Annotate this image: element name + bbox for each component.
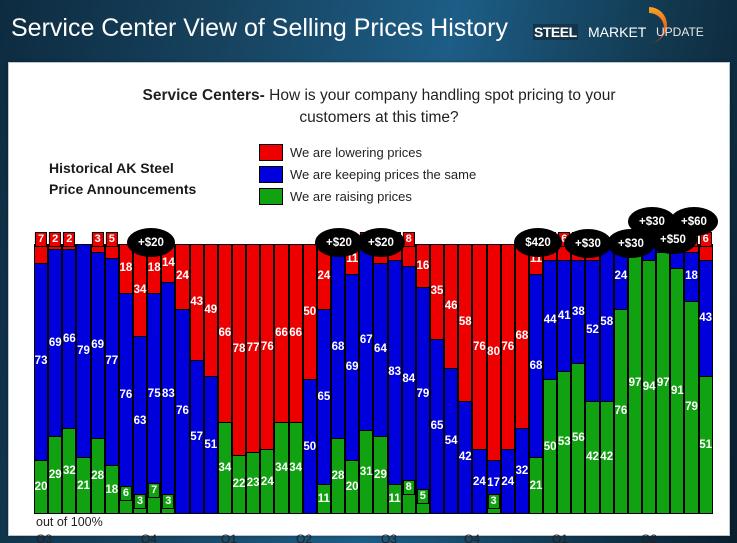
bar-value-label: 46 xyxy=(445,301,458,312)
bar-segment-red: 80 xyxy=(488,244,500,460)
legend-item-1: We are keeping prices the same xyxy=(259,165,476,184)
bar-segment-blue: 38 xyxy=(572,260,584,363)
steel-market-update-logo: STEEL MARKET UPDATE xyxy=(533,16,729,50)
bar-segment-green: 11 xyxy=(318,484,330,514)
chart-legend: We are lowering pricesWe are keeping pri… xyxy=(259,143,476,209)
bar-value-label: 51 xyxy=(204,440,217,451)
bar-segment-green: 29 xyxy=(374,436,386,514)
bar-value-label: 24 xyxy=(473,477,486,488)
bar-segment-blue: 32 xyxy=(516,428,528,514)
bar-value-label: 64 xyxy=(374,344,387,355)
bar-segment-red: 58 xyxy=(459,244,471,401)
logo-word-update: UPDATE xyxy=(656,25,704,39)
table-row: 246511 xyxy=(317,244,331,514)
bar-container: 7732026929266327921369285771818766346331… xyxy=(34,244,713,514)
table-row: 16795 xyxy=(416,244,430,514)
price-callout-2: +$20 xyxy=(357,228,405,257)
bar-value-label: 68 xyxy=(515,331,528,342)
table-row: 80173 xyxy=(487,244,501,514)
bar-segment-green: 28 xyxy=(92,438,104,514)
bar-segment-blue: 68 xyxy=(530,274,542,458)
bar-segment-red: 66 xyxy=(275,244,287,422)
bar-segment-blue: 63 xyxy=(134,336,146,506)
x-tick-0: Q3 xyxy=(36,532,52,543)
bar-segment-red: 7 xyxy=(35,244,47,263)
bar-segment-green: 76 xyxy=(615,309,627,514)
table-row: 77320 xyxy=(34,244,48,514)
bar-value-label: 23 xyxy=(247,478,260,489)
bar-segment-blue: 54 xyxy=(445,368,457,514)
bar-segment-blue: 50 xyxy=(304,379,316,514)
table-row: 26632 xyxy=(62,244,76,514)
legend-label: We are keeping prices the same xyxy=(290,167,476,182)
price-callout-7: +$30 xyxy=(628,207,676,236)
bar-segment-red: 6 xyxy=(700,244,712,260)
bar-segment-blue: 68 xyxy=(332,255,344,439)
bar-value-label: 42 xyxy=(586,452,599,463)
bar-value-label: 51 xyxy=(699,440,712,451)
bar-value-label: 29 xyxy=(374,470,387,481)
table-row: 36928 xyxy=(91,244,105,514)
bar-segment-blue: 69 xyxy=(49,249,61,435)
bar-value-label: 69 xyxy=(346,362,359,373)
bar-segment-green: 8 xyxy=(403,492,415,514)
bar-segment-green: 23 xyxy=(247,452,259,514)
y-axis-line xyxy=(34,244,35,514)
bar-value-label: 18 xyxy=(685,271,698,282)
table-row: 7921 xyxy=(76,244,90,514)
logo-word-steel: STEEL xyxy=(533,24,578,40)
bar-segment-green: 20 xyxy=(35,460,47,514)
bar-segment-blue: 79 xyxy=(77,244,89,457)
bar-value-label: 73 xyxy=(35,356,48,367)
bar-segment-blue: 58 xyxy=(601,244,613,401)
bar-value-label: 32 xyxy=(515,466,528,477)
table-row: 8848 xyxy=(402,244,416,514)
table-row: 5842 xyxy=(458,244,472,514)
bar-value-label: 38 xyxy=(572,307,585,318)
table-row: 65242 xyxy=(585,244,599,514)
table-row: 31879 xyxy=(684,244,698,514)
table-row: 3565 xyxy=(430,244,444,514)
bar-segment-green: 51 xyxy=(700,376,712,514)
bar-value-label: 2 xyxy=(63,232,75,247)
table-row: 64153 xyxy=(557,244,571,514)
table-row: 7822 xyxy=(232,244,246,514)
table-row: 63856 xyxy=(571,244,585,514)
bar-value-label: 50 xyxy=(303,442,316,453)
bar-value-label: 34 xyxy=(219,463,232,474)
price-callout-0: +$20 xyxy=(127,228,175,257)
bar-segment-blue: 64 xyxy=(374,263,386,436)
table-row: 991 xyxy=(670,244,684,514)
bar-segment-green: 97 xyxy=(629,252,641,514)
bar-segment-green: 22 xyxy=(233,455,245,514)
bar-value-label: 24 xyxy=(317,271,330,282)
price-callout-3: $420 xyxy=(514,228,562,257)
bar-value-label: 35 xyxy=(431,286,444,297)
bar-segment-red: 78 xyxy=(233,244,245,455)
bar-value-label: 7 xyxy=(148,483,160,498)
bar-value-label: 43 xyxy=(699,313,712,324)
question-lead: Service Centers- xyxy=(143,87,265,104)
table-row: 694 xyxy=(642,244,656,514)
bar-value-label: 20 xyxy=(35,482,48,493)
bar-segment-green: 97 xyxy=(657,252,669,514)
bar-value-label: 97 xyxy=(629,378,642,389)
bar-segment-blue: 44 xyxy=(544,260,556,379)
bar-value-label: 49 xyxy=(204,305,217,316)
legend-label: We are lowering prices xyxy=(290,145,422,160)
x-tick-3: Q2 xyxy=(296,532,312,543)
bar-value-label: 83 xyxy=(162,389,175,400)
bar-value-label: 42 xyxy=(600,452,613,463)
bar-segment-red: 77 xyxy=(247,244,259,452)
bar-segment-red: 3 xyxy=(92,244,104,252)
bar-value-label: 66 xyxy=(289,328,302,339)
bar-value-label: 34 xyxy=(289,463,302,474)
bar-value-label: 3 xyxy=(162,494,174,509)
bar-segment-red: 18 xyxy=(120,244,132,293)
bar-segment-blue: 24 xyxy=(473,449,485,514)
bar-segment-green: 6 xyxy=(120,498,132,514)
bar-segment-blue: 41 xyxy=(558,260,570,371)
table-row: 34633 xyxy=(133,244,147,514)
bar-segment-green: 24 xyxy=(261,449,273,514)
content-panel: Service Centers- How is your company han… xyxy=(8,62,730,536)
bar-segment-green: 34 xyxy=(219,422,231,514)
bar-value-label: 29 xyxy=(49,470,62,481)
bar-value-label: 42 xyxy=(459,452,472,463)
x-tick-1: Q4 xyxy=(141,532,157,543)
bar-segment-red: 34 xyxy=(134,244,146,336)
bar-segment-green: 34 xyxy=(275,422,287,514)
bar-segment-red: 76 xyxy=(502,244,514,449)
bar-segment-blue: 52 xyxy=(586,260,598,400)
table-row: 116821 xyxy=(529,244,543,514)
bar-segment-blue: 83 xyxy=(389,260,401,484)
bar-segment-red: 35 xyxy=(431,244,443,339)
x-axis-line xyxy=(34,513,713,514)
bar-value-label: 66 xyxy=(275,328,288,339)
bar-segment-blue: 18 xyxy=(685,252,697,301)
survey-question: Service Centers- How is your company han… xyxy=(129,85,629,129)
bar-segment-green: 42 xyxy=(601,401,613,514)
legend-item-2: We are raising prices xyxy=(259,187,476,206)
table-row: 64351 xyxy=(699,244,713,514)
table-row: 397 xyxy=(628,244,642,514)
bar-value-label: 76 xyxy=(176,406,189,417)
bar-segment-green: 79 xyxy=(685,301,697,514)
bar-value-label: 52 xyxy=(586,325,599,336)
table-row: 7624 xyxy=(501,244,515,514)
bar-value-label: 24 xyxy=(176,271,189,282)
table-row: 18766 xyxy=(119,244,133,514)
bar-segment-blue: 79 xyxy=(417,287,429,500)
bar-value-label: 11 xyxy=(389,494,401,505)
slide-root: Service Center View of Selling Prices Hi… xyxy=(0,0,737,543)
bar-segment-green: 32 xyxy=(63,428,75,514)
bar-segment-red: 46 xyxy=(445,244,457,368)
bar-segment-blue: 77 xyxy=(106,258,118,466)
bar-segment-blue: 83 xyxy=(162,282,174,506)
bar-value-label: 21 xyxy=(77,481,90,492)
bar-segment-green: 21 xyxy=(77,457,89,514)
bar-segment-green: 56 xyxy=(572,363,584,514)
table-row: 4654 xyxy=(444,244,458,514)
page-title: Service Center View of Selling Prices Hi… xyxy=(11,14,508,43)
bar-value-label: 24 xyxy=(614,271,627,282)
bar-value-label: 83 xyxy=(388,367,401,378)
bar-segment-green: 5 xyxy=(417,501,429,515)
bar-segment-green: 42 xyxy=(586,401,598,514)
table-row: 6634 xyxy=(218,244,232,514)
bar-value-label: 20 xyxy=(346,482,359,493)
bar-value-label: 56 xyxy=(572,433,585,444)
bar-value-label: 14 xyxy=(162,258,175,269)
table-row: 5050 xyxy=(303,244,317,514)
bar-value-label: 58 xyxy=(600,317,613,328)
bar-value-label: 75 xyxy=(148,389,161,400)
table-row: 4951 xyxy=(204,244,218,514)
bar-segment-red: 8 xyxy=(403,244,415,266)
bar-value-label: 22 xyxy=(233,479,246,490)
bar-segment-blue: 24 xyxy=(502,449,514,514)
bar-value-label: 34 xyxy=(134,285,147,296)
legend-item-0: We are lowering prices xyxy=(259,143,476,162)
table-row: 18757 xyxy=(147,244,161,514)
table-row: 397 xyxy=(656,244,670,514)
slide-header: Service Center View of Selling Prices Hi… xyxy=(0,0,737,60)
bar-segment-red: 5 xyxy=(106,244,118,258)
x-tick-5: Q4 xyxy=(464,532,480,543)
bar-segment-blue: 57 xyxy=(191,360,203,514)
bar-value-label: 18 xyxy=(148,263,161,274)
bar-value-label: 76 xyxy=(120,390,133,401)
bar-segment-blue: 43 xyxy=(700,260,712,376)
bar-value-label: 18 xyxy=(105,485,118,496)
bar-value-label: 24 xyxy=(501,477,514,488)
bar-segment-red: 43 xyxy=(191,244,203,360)
bar-value-label: 28 xyxy=(332,471,345,482)
bar-segment-green: 20 xyxy=(346,460,358,514)
bar-value-label: 6 xyxy=(120,486,132,501)
bar-segment-blue: 51 xyxy=(205,376,217,514)
table-row: 6634 xyxy=(289,244,303,514)
bar-segment-red: 68 xyxy=(516,244,528,428)
table-row: 46828 xyxy=(331,244,345,514)
bar-value-label: 66 xyxy=(63,334,76,345)
bar-value-label: 91 xyxy=(671,386,684,397)
bar-value-label: 11 xyxy=(318,494,330,505)
bar-value-label: 53 xyxy=(558,437,571,448)
bar-segment-blue: 69 xyxy=(92,252,104,438)
bar-value-label: 94 xyxy=(643,382,656,393)
legend-label: We are raising prices xyxy=(290,189,412,204)
bar-value-label: 68 xyxy=(332,342,345,353)
bar-value-label: 21 xyxy=(530,481,543,492)
x-tick-7: Q2 xyxy=(641,532,657,543)
bar-value-label: 34 xyxy=(275,463,288,474)
table-row: 7723 xyxy=(246,244,260,514)
bar-segment-green: 94 xyxy=(643,260,655,514)
table-row: 14833 xyxy=(161,244,175,514)
bar-segment-blue: 42 xyxy=(459,401,471,514)
bar-value-label: 3 xyxy=(134,494,146,509)
bar-segment-blue: 66 xyxy=(63,249,75,427)
bar-value-label: 5 xyxy=(417,489,429,504)
bar-value-label: 31 xyxy=(360,467,373,478)
bar-value-label: 79 xyxy=(685,402,698,413)
bar-value-label: 54 xyxy=(445,436,458,447)
bar-segment-blue: 84 xyxy=(403,266,415,493)
table-row: 26731 xyxy=(359,244,373,514)
table-row: 68311 xyxy=(388,244,402,514)
bar-value-label: 66 xyxy=(219,328,232,339)
table-row: 6634 xyxy=(274,244,288,514)
bar-segment-green: 18 xyxy=(106,465,118,514)
bar-segment-blue: 76 xyxy=(176,309,188,514)
bar-value-label: 44 xyxy=(544,315,557,326)
bar-segment-blue: 75 xyxy=(148,293,160,496)
bar-segment-green: 53 xyxy=(558,371,570,514)
bar-value-label: 16 xyxy=(416,261,429,272)
bar-value-label: 8 xyxy=(403,480,415,495)
bar-value-label: 58 xyxy=(459,317,472,328)
bar-segment-blue: 67 xyxy=(360,249,372,430)
bar-value-label: 41 xyxy=(558,311,571,322)
bar-value-label: 76 xyxy=(261,342,274,353)
bar-segment-red: 76 xyxy=(473,244,485,449)
table-row: 57718 xyxy=(105,244,119,514)
legend-swatch-icon xyxy=(259,144,283,161)
logo-word-market: MARKET xyxy=(588,24,646,40)
x-tick-6: Q1 xyxy=(552,532,568,543)
bar-value-label: 77 xyxy=(247,343,260,354)
bar-value-label: 76 xyxy=(473,342,486,353)
bar-segment-green: 28 xyxy=(332,438,344,514)
bar-segment-red: 50 xyxy=(304,244,316,379)
table-row: 5842 xyxy=(600,244,614,514)
bar-value-label: 69 xyxy=(49,338,62,349)
table-row: 4357 xyxy=(190,244,204,514)
bar-segment-red: 24 xyxy=(176,244,188,309)
bar-value-label: 68 xyxy=(530,361,543,372)
bar-value-label: 80 xyxy=(487,347,500,358)
bar-value-label: 67 xyxy=(360,335,373,346)
bar-value-label: 79 xyxy=(416,389,429,400)
bar-segment-red: 49 xyxy=(205,244,217,376)
bar-segment-green: 31 xyxy=(360,430,372,514)
bar-value-label: 7 xyxy=(35,232,47,247)
bar-value-label: 50 xyxy=(544,442,557,453)
bar-value-label: 50 xyxy=(303,307,316,318)
bar-segment-green: 7 xyxy=(148,495,160,514)
bar-value-label: 77 xyxy=(105,356,118,367)
legend-swatch-icon xyxy=(259,188,283,205)
table-row: 76429 xyxy=(373,244,387,514)
bar-segment-blue: 69 xyxy=(346,274,358,460)
x-tick-2: Q1 xyxy=(221,532,237,543)
y-axis-caption: out of 100% xyxy=(36,515,103,529)
bar-segment-green: 21 xyxy=(530,457,542,514)
stacked-bar-chart: 7732026929266327921369285771818766346331… xyxy=(34,244,713,514)
historical-announcements-label: Historical AK SteelPrice Announcements xyxy=(49,158,229,200)
table-row: 7624 xyxy=(260,244,274,514)
bar-value-label: 63 xyxy=(134,416,147,427)
table-row: 116920 xyxy=(345,244,359,514)
bar-value-label: 2 xyxy=(49,232,61,247)
table-row: 2476 xyxy=(614,244,628,514)
bar-value-label: 97 xyxy=(657,378,670,389)
bar-segment-red: 66 xyxy=(219,244,231,422)
bar-segment-green: 11 xyxy=(389,484,401,514)
price-callout-4: +$30 xyxy=(564,229,612,258)
bar-segment-blue: 65 xyxy=(318,309,330,485)
bar-segment-green: 91 xyxy=(671,268,683,514)
bar-value-label: 17 xyxy=(487,478,500,489)
bar-value-label: 32 xyxy=(63,466,76,477)
bar-value-label: 69 xyxy=(91,340,104,351)
bar-segment-red: 76 xyxy=(261,244,273,449)
bar-segment-blue: 65 xyxy=(431,339,443,515)
price-callout-1: +$20 xyxy=(315,228,363,257)
bar-value-label: 43 xyxy=(190,297,203,308)
table-row: 2476 xyxy=(175,244,189,514)
bar-segment-red: 66 xyxy=(290,244,302,422)
bar-segment-blue: 73 xyxy=(35,263,47,460)
bar-value-label: 24 xyxy=(261,477,274,488)
bar-value-label: 28 xyxy=(91,471,104,482)
x-tick-4: Q3 xyxy=(381,532,397,543)
bar-segment-blue: 76 xyxy=(120,293,132,498)
table-row: 7624 xyxy=(472,244,486,514)
bar-segment-green: 29 xyxy=(49,436,61,514)
price-callout-8: +$60 xyxy=(670,207,718,236)
bar-value-label: 76 xyxy=(614,406,627,417)
bar-segment-green: 34 xyxy=(290,422,302,514)
bar-value-label: 3 xyxy=(92,232,104,247)
bar-value-label: 5 xyxy=(106,232,118,247)
question-rest: How is your company handling spot pricin… xyxy=(265,87,616,126)
legend-swatch-icon xyxy=(259,166,283,183)
bar-segment-red: 16 xyxy=(417,244,429,287)
bar-value-label: 3 xyxy=(488,494,500,509)
bar-segment-green: 50 xyxy=(544,379,556,514)
bar-value-label: 78 xyxy=(233,344,246,355)
bar-value-label: 57 xyxy=(190,432,203,443)
bar-value-label: 76 xyxy=(501,342,514,353)
bar-value-label: 79 xyxy=(77,346,90,357)
table-row: 26929 xyxy=(48,244,62,514)
table-row: 64450 xyxy=(543,244,557,514)
bar-value-label: 84 xyxy=(402,374,415,385)
bar-value-label: 18 xyxy=(120,263,133,274)
bar-value-label: 65 xyxy=(431,421,444,432)
table-row: 6832 xyxy=(515,244,529,514)
bar-value-label: 65 xyxy=(317,392,330,403)
